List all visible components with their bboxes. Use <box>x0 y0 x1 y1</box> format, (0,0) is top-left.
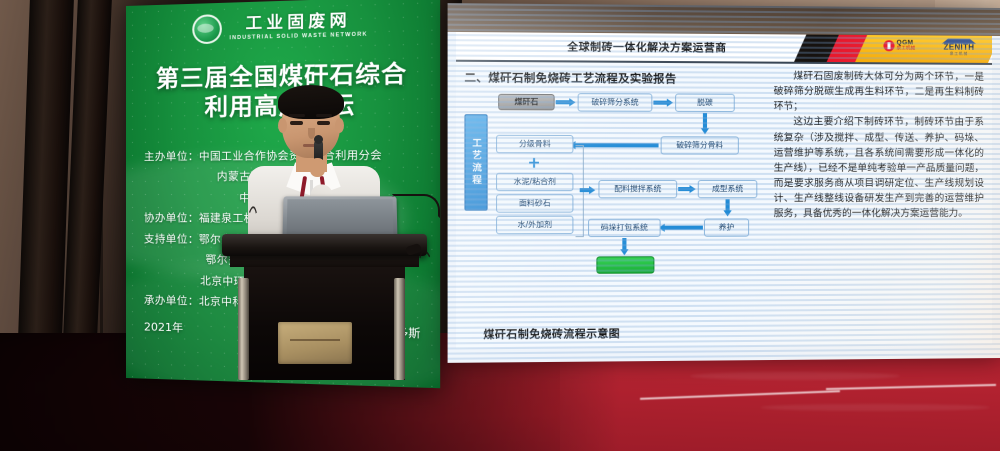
speaker-eye <box>290 121 303 125</box>
slide-header: 全球制砖一体化解决方案运营商 QGM 泉工机械 ZENITH 泉工机械 <box>456 32 992 63</box>
conference-photo: 工业固废网 INDUSTRIAL SOLID WASTE NETWORK 第三届… <box>0 0 1000 451</box>
slide-header-title: 全球制砖一体化解决方案运营商 <box>456 38 794 56</box>
presentation-slide: 全球制砖一体化解决方案运营商 QGM 泉工机械 ZENITH 泉工机械 <box>456 32 992 348</box>
flow-node-crush1: 破碎筛分系统 <box>578 93 653 112</box>
speaker-brow <box>316 114 332 117</box>
zenith-name-cn: 泉工机械 <box>942 52 976 57</box>
flow-node-product <box>596 256 654 274</box>
flow-plus-symbol: + <box>527 155 540 170</box>
laptop-screen <box>287 199 394 236</box>
slide-paragraph-2: 这边主要介绍下制砖环节，制砖环节由于系统复杂（涉及搅拌、成型、传送、养护、码垛、… <box>774 115 984 222</box>
flow-node-raw: 煤矸石 <box>498 94 555 111</box>
flow-node-admix: 水/外加剂 <box>496 216 573 235</box>
slide-paragraphs: 煤矸石固废制砖大体可分为两个环节，一是破碎筛分脱碳生成再生料环节，二是再生料制砖… <box>774 69 984 222</box>
flow-node-grade: 分级骨料 <box>496 135 573 154</box>
speaker-ear <box>335 118 344 133</box>
zenith-mark-icon <box>942 39 976 44</box>
slide-section-heading: 二、煤矸石制免烧砖工艺流程及实验报告 <box>464 69 767 87</box>
speaker-eye <box>317 121 330 125</box>
process-flowchart: 工艺流程 煤矸石 破碎筛分系统 脱碳 破碎筛分骨料 分级骨料 <box>464 92 767 277</box>
flow-node-decarb: 脱碳 <box>675 94 735 113</box>
flow-node-aggregate: 破碎筛分骨料 <box>661 136 739 154</box>
screen-top-edge <box>448 3 1000 36</box>
flow-node-cement: 水泥/粘合剂 <box>496 173 573 191</box>
banner-date: 2021年 <box>144 318 183 335</box>
qgm-name-cn: 泉工机械 <box>897 47 916 52</box>
microphone-boom <box>392 194 440 218</box>
qgm-mark-icon <box>883 40 894 51</box>
projection-screen: 全球制砖一体化解决方案运营商 QGM 泉工机械 ZENITH 泉工机械 <box>448 3 1000 363</box>
qgm-logo: QGM 泉工机械 <box>883 40 915 51</box>
flow-node-stack: 码垛打包系统 <box>588 219 661 238</box>
slide-caption: 煤矸石制免烧砖流程示意图 <box>483 326 620 342</box>
speaker-ear <box>278 118 287 133</box>
slide-paragraph-1: 煤矸石固废制砖大体可分为两个环节，一是破碎筛分脱碳生成再生料环节，二是再生料制砖… <box>774 69 984 116</box>
carpet-wrinkle <box>760 404 990 411</box>
flow-node-mix: 配料搅拌系统 <box>598 180 677 198</box>
speaker-hand <box>310 158 325 177</box>
globe-icon <box>193 14 223 44</box>
flowchart-side-label: 工艺流程 <box>464 114 487 211</box>
carpet-wrinkle <box>690 372 900 380</box>
zenith-logo: ZENITH 泉工机械 <box>942 39 976 58</box>
flow-node-sand: 面料砂石 <box>496 194 573 213</box>
slide-header-graphic: QGM 泉工机械 ZENITH 泉工机械 <box>794 34 992 62</box>
podium-plaque <box>278 322 352 364</box>
flow-node-cure: 养护 <box>704 218 749 236</box>
podium-leg <box>394 278 405 380</box>
speaker-hair <box>278 85 344 119</box>
logo-text-en: INDUSTRIAL SOLID WASTE NETWORK <box>229 31 367 41</box>
logo-text-cn: 工业固废网 <box>229 12 367 32</box>
speaker-brow <box>289 114 305 117</box>
banner-logo: 工业固废网 INDUSTRIAL SOLID WASTE NETWORK <box>136 8 429 46</box>
flow-node-mold: 成型系统 <box>698 180 758 198</box>
